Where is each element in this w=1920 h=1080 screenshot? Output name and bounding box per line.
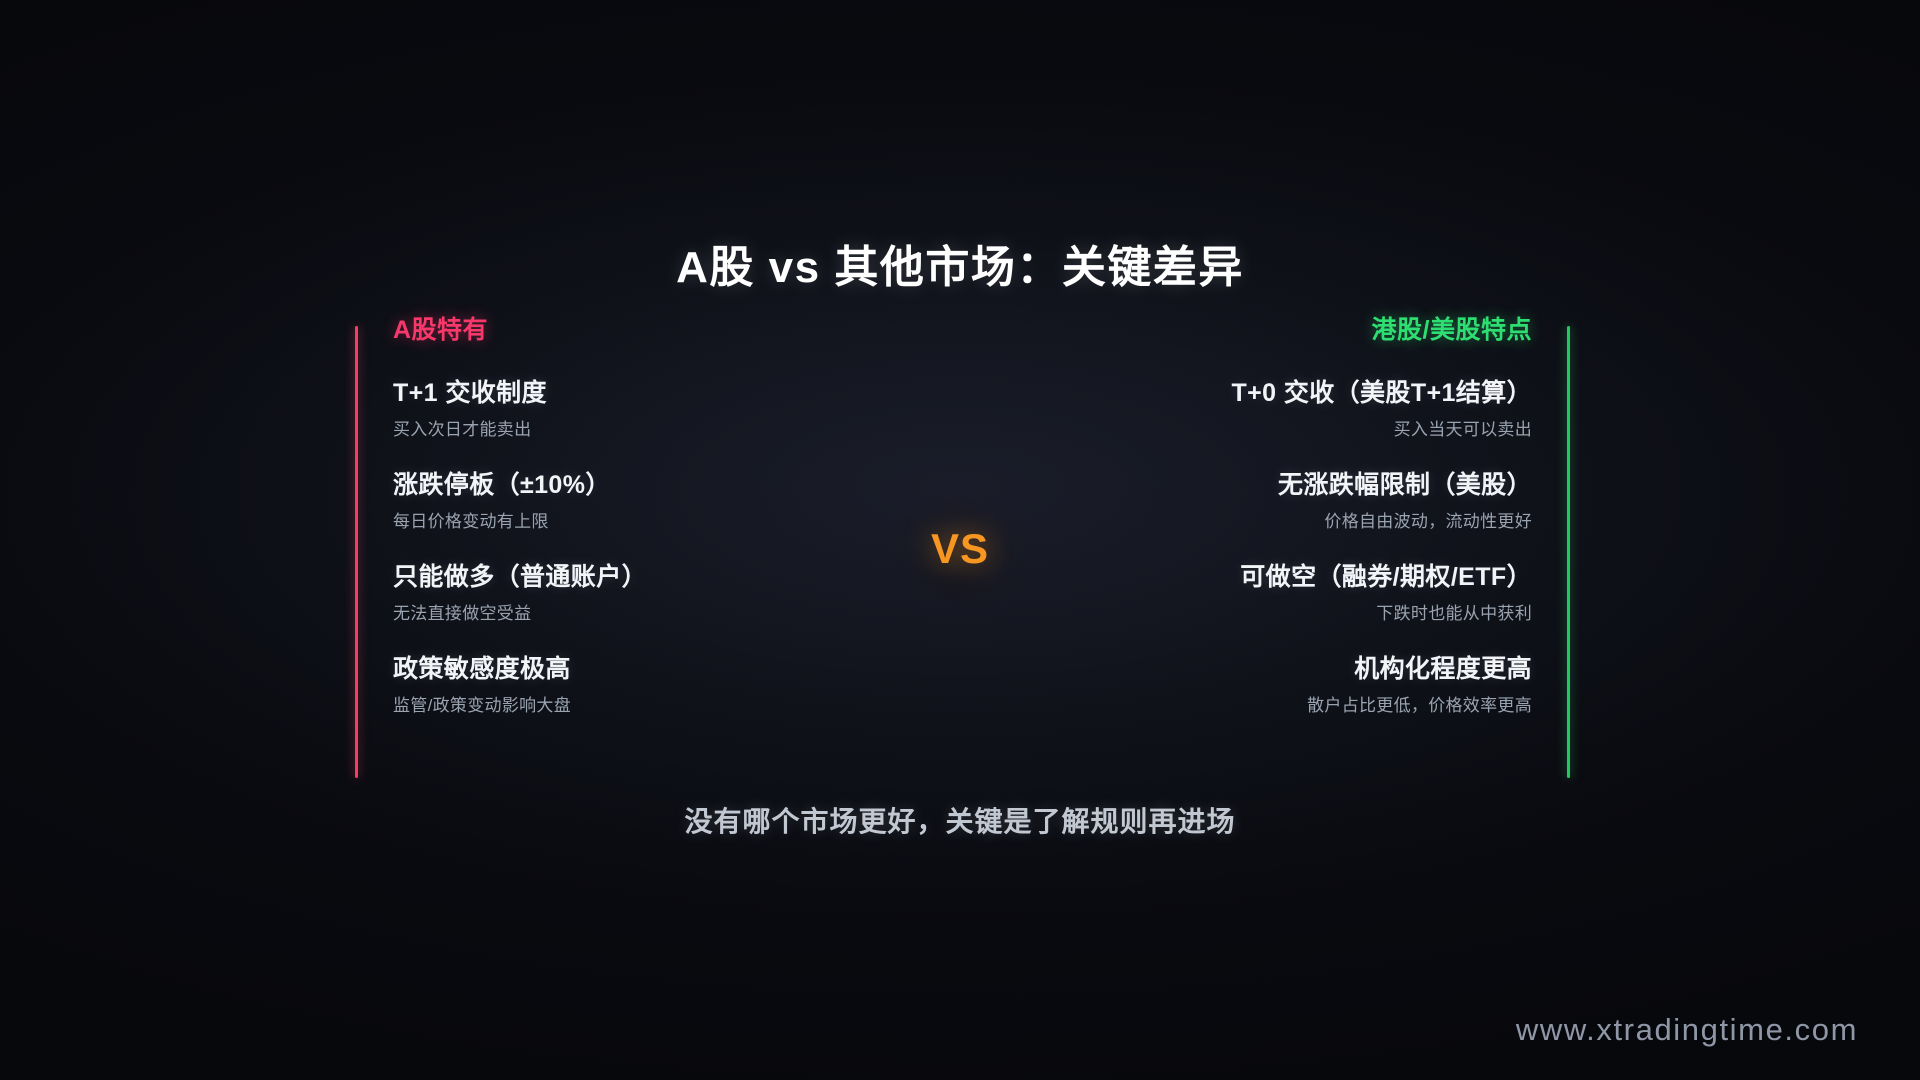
feature-title: T+0 交收（美股T+1结算） <box>1100 379 1532 408</box>
list-item: T+1 交收制度 买入次日才能卖出 <box>393 379 825 471</box>
page-title: A股 vs 其他市场：关键差异 <box>0 231 1920 295</box>
feature-detail: 买入次日才能卖出 <box>393 420 825 440</box>
feature-title: 政策敏感度极高 <box>393 655 825 684</box>
feature-detail: 监管/政策变动影响大盘 <box>393 696 825 716</box>
left-column-heading: A股特有 <box>393 318 825 343</box>
feature-detail: 下跌时也能从中获利 <box>1100 604 1532 624</box>
list-item: 政策敏感度极高 监管/政策变动影响大盘 <box>393 655 825 747</box>
slide-canvas: A股 vs 其他市场：关键差异 A股特有 T+1 交收制度 买入次日才能卖出 涨… <box>0 0 1920 1080</box>
list-item: 机构化程度更高 散户占比更低，价格效率更高 <box>1100 655 1532 747</box>
right-column-heading: 港股/美股特点 <box>1100 318 1532 343</box>
feature-title: 涨跌停板（±10%） <box>393 471 825 500</box>
feature-title: 无涨跌幅限制（美股） <box>1100 471 1532 500</box>
list-item: 只能做多（普通账户） 无法直接做空受益 <box>393 563 825 655</box>
feature-detail: 散户占比更低，价格效率更高 <box>1100 696 1532 716</box>
feature-detail: 买入当天可以卖出 <box>1100 420 1532 440</box>
feature-title: 机构化程度更高 <box>1100 655 1532 684</box>
feature-title: T+1 交收制度 <box>393 379 825 408</box>
feature-detail: 无法直接做空受益 <box>393 604 825 624</box>
vs-badge: VS <box>0 525 1920 573</box>
footer-note: 没有哪个市场更好，关键是了解规则再进场 <box>0 800 1920 840</box>
list-item: 可做空（融券/期权/ETF） 下跌时也能从中获利 <box>1100 563 1532 655</box>
list-item: T+0 交收（美股T+1结算） 买入当天可以卖出 <box>1100 379 1532 471</box>
watermark: www.xtradingtime.com <box>1516 1012 1858 1048</box>
